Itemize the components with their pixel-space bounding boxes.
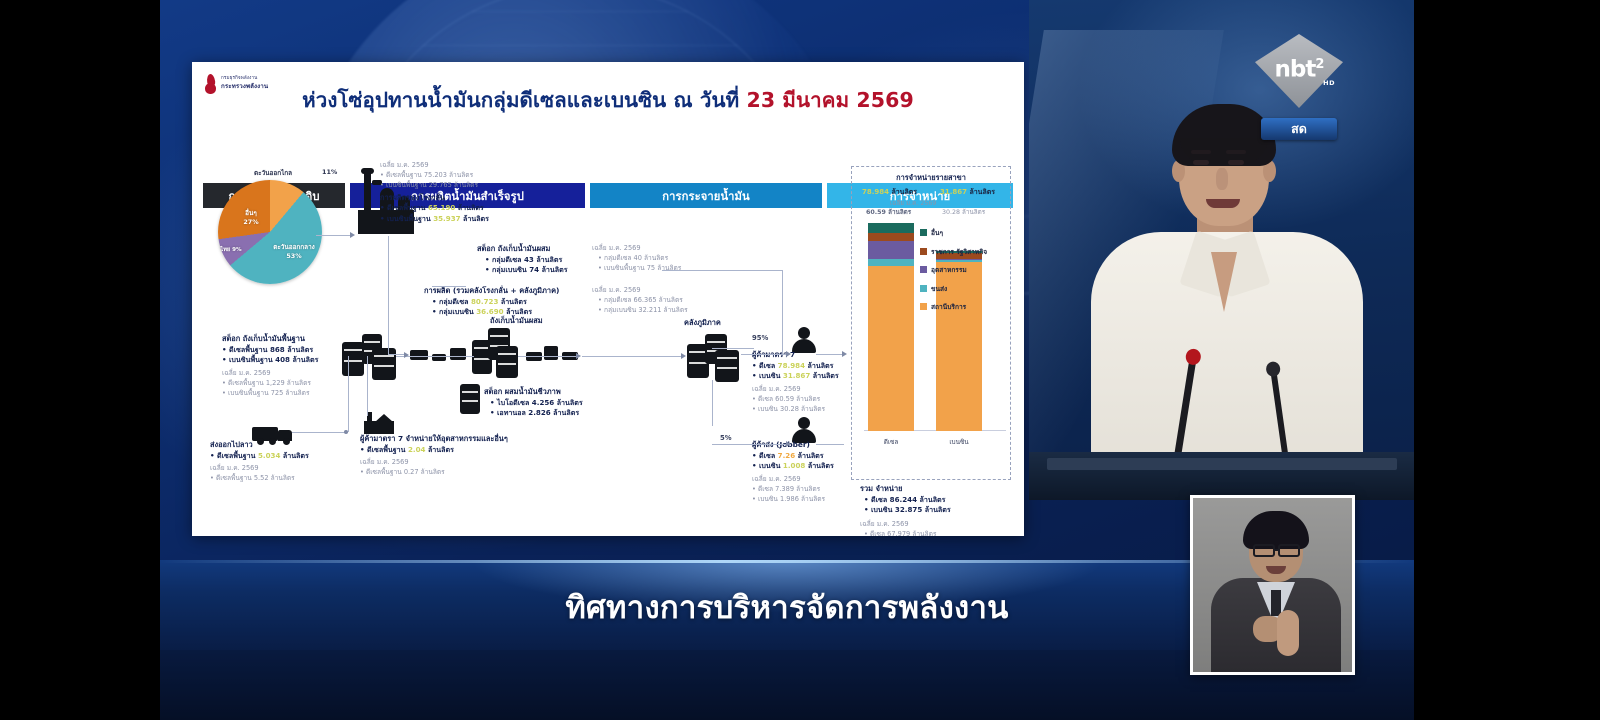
trader-share-pct: 95%: [752, 334, 768, 342]
speaker-mouth: [1206, 199, 1240, 208]
regional-depot-label: คลังภูมิภาค: [684, 318, 721, 329]
production-diesel-unit: ล้านลิตร: [498, 297, 526, 306]
jobber-diesel-line: • ดีเซล 7.26 ล้านลิตร: [752, 451, 860, 462]
legend-item-transport: ขนส่ง: [920, 283, 1012, 294]
bar-diesel: [868, 223, 914, 431]
seg-government: [868, 233, 914, 240]
speaker-eye-right: [1228, 160, 1244, 165]
sales-chart-title: การจำหน่ายรายสาขา: [852, 172, 1010, 184]
jobber-share-pct: 5%: [720, 434, 732, 442]
screenshot-root: กรมธุรกิจพลังงาน กระทรวงพลังงาน ห่วงโซ่อ…: [0, 0, 1600, 720]
trader-gasoline-line: • เบนซิน 31.867 ล้านลิตร: [752, 371, 860, 382]
refinery-avg-diesel: • ดีเซลพื้นฐาน 75.203 ล้านลิตร: [380, 171, 540, 181]
legend-label-other: อื่นๆ: [931, 227, 943, 238]
presentation-slide: กรมธุรกิจพลังงาน กระทรวงพลังงาน ห่วงโซ่อ…: [192, 62, 1024, 536]
refinery-diesel-line: • ดีเซลพื้นฐาน 65.190 ล้านลิตร: [380, 203, 540, 214]
trader-gasoline-unit: ล้านลิตร: [810, 371, 838, 380]
biofuel-stock-block: สต็อก ผสมน้ำมันชีวภาพ • ไบโอดีเซล 4.256 …: [484, 387, 612, 419]
export-avg-head: เฉลี่ย ม.ค. 2569: [210, 464, 342, 474]
pillarbox-right: [1414, 0, 1600, 720]
regional-depot-tanks-icon: [687, 334, 741, 382]
sales-chart-panel: การจำหน่ายรายสาขา 78.984 ล้านลิตร 31.867…: [851, 166, 1011, 480]
sign-language-interpreter-box: [1190, 495, 1355, 675]
export-block: ส่งออกไปลาว • ดีเซลพื้นฐาน 5.034 ล้านลิต…: [210, 440, 342, 484]
industry-diesel-unit: ล้านลิตร: [425, 445, 453, 454]
mix-stock-avg-head: เฉลี่ย ม.ค. 2569: [592, 244, 712, 254]
refinery-gasoline-pre: • เบนซินพื้นฐาน: [380, 214, 433, 223]
base-stock-diesel: • ดีเซลพื้นฐาน 868 ล้านลิตร: [222, 345, 352, 356]
industry-diesel-value: 2.04: [408, 445, 426, 454]
industry-avg-head: เฉลี่ย ม.ค. 2569: [360, 458, 546, 468]
mix-stock-gasoline: • กลุ่มเบนซิน 74 ล้านลิตร: [477, 265, 589, 276]
legend-item-other: อื่นๆ: [920, 227, 1012, 238]
diesel-avg-value: 60.59 ล้านลิตร: [866, 207, 911, 217]
seg-station: [868, 266, 914, 431]
speaker-video: [1029, 0, 1414, 500]
mix-stock-avg-diesel: • กลุ่มดีเซล 40 ล้านลิตร: [592, 254, 712, 264]
total-sales-block: รวม จำหน่าย • ดีเซล 86.244 ล้านลิตร • เบ…: [860, 484, 1010, 536]
refinery-head: การผลิตของโรงกลั่น: [380, 193, 540, 204]
gasoline-total-unit: ล้านลิตร: [969, 188, 995, 196]
refinery-diesel-pre: • ดีเซลพื้นฐาน: [380, 203, 428, 212]
production-block: การผลิต (รวมคลังโรงกลั่น + คลังภูมิภาค) …: [424, 286, 599, 318]
industry-avg-diesel: • ดีเซลพื้นฐาน 0.27 ล้านลิตร: [360, 468, 546, 478]
interpreter-glasses-right: [1278, 544, 1300, 557]
production-avg-block: เฉลี่ย ม.ค. 2569 • กลุ่มดีเซล 66.365 ล้า…: [592, 286, 717, 316]
interpreter-glasses-bridge: [1274, 549, 1280, 551]
logo-text: nbt2: [1275, 58, 1324, 82]
mix-stock-head: สต็อก ถังเก็บน้ำมันผสม: [477, 244, 589, 255]
export-head: ส่งออกไปลาว: [210, 440, 342, 451]
legend-swatch-other: [920, 229, 927, 236]
base-stock-avg-head: เฉลี่ย ม.ค. 2569: [222, 369, 352, 379]
channel-logo: nbt2 HD: [1255, 34, 1343, 108]
refinery-avg-gasoline: • เบนซินพื้นฐาน 29.765 ล้านลิตร: [380, 181, 540, 191]
trader-gasoline-value: 31.867: [783, 371, 810, 380]
pie-graphic: [218, 180, 322, 284]
stage-distribution: การกระจายน้ำมัน: [590, 183, 822, 208]
refinery-gasoline-value: 35.937: [433, 214, 460, 223]
base-stock-avg-gasoline: • เบนซินพื้นฐาน 725 ล้านลิตร: [222, 389, 352, 399]
mix-stock-block: สต็อก ถังเก็บน้ำมันผสม • กลุ่มดีเซล 43 ล…: [477, 244, 589, 276]
total-gasoline: • เบนซิน 32.875 ล้านลิตร: [860, 505, 1010, 516]
base-stock-avg-diesel: • ดีเซลพื้นฐาน 1,229 ล้านลิตร: [222, 379, 352, 389]
gasoline-avg-unit: ล้านลิตร: [962, 209, 985, 216]
sales-chart-legend: อื่นๆ ราชการ รัฐวิสาหกิจ อุตสาหกรรม ขนส่…: [920, 227, 1012, 320]
export-avg-diesel: • ดีเซลพื้นฐาน 5.52 ล้านลิตร: [210, 474, 342, 484]
jobber-gasoline-value: 1.008: [783, 461, 805, 470]
trader-avg-head: เฉลี่ย ม.ค. 2569: [752, 385, 860, 395]
diesel-total-number: 78.984: [862, 188, 889, 196]
jobber-gasoline-pre: • เบนซิน: [752, 461, 783, 470]
slide-title-main: ห่วงโซ่อุปทานน้ำมันกลุ่มดีเซลและเบนซิน ณ…: [302, 88, 746, 112]
gasoline-avg-number: 30.28: [942, 209, 960, 216]
biofuel-head: สต็อก ผสมน้ำมันชีวภาพ: [484, 387, 612, 398]
trader-diesel-line: • ดีเซล 78.984 ล้านลิตร: [752, 361, 860, 372]
trader-gasoline-pre: • เบนซิน: [752, 371, 783, 380]
ministry-dept-label: กรมธุรกิจพลังงาน: [221, 76, 268, 83]
speaker-nose: [1216, 168, 1228, 190]
biofuel-tank-icon: [460, 384, 482, 416]
legend-swatch-industry: [920, 266, 927, 273]
export-diesel-line: • ดีเซลพื้นฐาน 5.034 ล้านลิตร: [210, 451, 342, 462]
diesel-total-unit: ล้านลิตร: [891, 188, 917, 196]
pie-label-fareast: ตะวันออกไกล: [254, 168, 292, 178]
legend-swatch-station: [920, 303, 927, 310]
bar-label-diesel: ดีเซล: [868, 437, 914, 447]
gasoline-total-number: 31.867: [940, 188, 967, 196]
jobber-gasoline-unit: ล้านลิตร: [805, 461, 833, 470]
production-diesel-pre: • กลุ่มดีเซล: [432, 297, 471, 306]
crude-source-pie-chart: ตะวันออกไกล 11% อื่นๆ27% ไทย 9% ตะวันออก…: [210, 168, 348, 288]
trader-diesel-pre: • ดีเซล: [752, 361, 778, 370]
refinery-avg-head: เฉลี่ย ม.ค. 2569: [380, 161, 540, 171]
total-diesel: • ดีเซล 86.244 ล้านลิตร: [860, 495, 1010, 506]
legend-label-transport: ขนส่ง: [931, 283, 947, 294]
production-head: การผลิต (รวมคลังโรงกลั่น + คลังภูมิภาค): [424, 286, 599, 297]
stage-label: การกระจายน้ำมัน: [662, 187, 749, 205]
jobber-block: ผู้ค้าส่ง (Jobber) • ดีเซล 7.26 ล้านลิตร…: [752, 440, 860, 505]
base-stock-gasoline: • เบนซินพื้นฐาน 408 ล้านลิตร: [222, 355, 352, 366]
logo-diamond-shape: nbt2: [1255, 34, 1343, 108]
slide-title: ห่วงโซ่อุปทานน้ำมันกลุ่มดีเซลและเบนซิน ณ…: [192, 84, 1024, 117]
production-diesel-line: • กลุ่มดีเซล 80.723 ล้านลิตร: [424, 297, 599, 308]
diesel-avg-number: 60.59: [866, 209, 886, 216]
gasoline-avg-value: 30.28 ล้านลิตร: [942, 207, 985, 217]
pie-value-fareast: 11%: [322, 168, 337, 176]
production-diesel-value: 80.723: [471, 297, 498, 306]
mix-stock-avg-gasoline: • เบนซินพื้นฐาน 75 ล้านลิตร: [592, 264, 712, 274]
slide-title-date: 23 มีนาคม 2569: [746, 88, 913, 112]
production-avg-gasoline: • กลุ่มเบนซิน 32.211 ล้านลิตร: [592, 306, 717, 316]
industry-block: ผู้ค้ามาตรา 7 จำหน่ายให้อุตสาหกรรมและอื่…: [360, 434, 546, 478]
live-badge: สด: [1261, 118, 1337, 140]
jobber-gasoline-line: • เบนซิน 1.008 ล้านลิตร: [752, 461, 860, 472]
total-avg-diesel: • ดีเซล 67.979 ล้านลิตร: [860, 530, 1010, 536]
legend-label-station: สถานีบริการ: [931, 301, 966, 312]
trader-avg-gasoline: • เบนซิน 30.28 ล้านลิตร: [752, 405, 860, 415]
logo-channel-number: 2: [1315, 57, 1323, 72]
total-head: รวม จำหน่าย: [860, 484, 1010, 495]
jobber-diesel-pre: • ดีเซล: [752, 451, 778, 460]
pie-label-other: อื่นๆ27%: [236, 208, 266, 226]
speaker-brow-right: [1226, 150, 1246, 154]
production-gasoline-pre: • กลุ่มเบนซิน: [432, 307, 476, 316]
mix-stock-diesel: • กลุ่มดีเซล 43 ล้านลิตร: [477, 255, 589, 266]
speaker-eye-left: [1193, 160, 1209, 165]
export-diesel-pre: • ดีเซลพื้นฐาน: [210, 451, 258, 460]
pie-label-mideast: ตะวันออกกลาง53%: [266, 242, 322, 260]
jobber-diesel-unit: ล้านลิตร: [795, 451, 823, 460]
speaker-brow-left: [1191, 150, 1211, 154]
base-stock-head: สต็อก ถังเก็บน้ำมันพื้นฐาน: [222, 334, 352, 345]
pillarbox-left: [0, 0, 160, 720]
mix-tank-label: ถังเก็บน้ำมันผสม: [490, 316, 543, 327]
speaker-desk: [1029, 452, 1414, 500]
industry-head: ผู้ค้ามาตรา 7 จำหน่ายให้อุตสาหกรรมและอื่…: [360, 434, 546, 445]
logo-name: nbt: [1275, 57, 1316, 83]
export-diesel-unit: ล้านลิตร: [280, 451, 308, 460]
legend-label-industry: อุตสาหกรรม: [931, 264, 967, 275]
jobber-head: ผู้ค้าส่ง (Jobber): [752, 440, 860, 451]
biofuel-biodiesel: • ไบโอดีเซล 4.256 ล้านลิตร: [484, 398, 612, 409]
jobber-avg-gasoline: • เบนซิน 1.986 ล้านลิตร: [752, 495, 860, 505]
biofuel-ethanol: • เอทานอล 2.826 ล้านลิตร: [484, 408, 612, 419]
production-avg-head: เฉลี่ย ม.ค. 2569: [592, 286, 717, 296]
interpreter-hand-right: [1277, 610, 1299, 656]
legend-item-industry: อุตสาหกรรม: [920, 264, 1012, 275]
bar-label-gasoline: เบนซิน: [936, 437, 982, 447]
diesel-total-value: 78.984 ล้านลิตร: [862, 187, 917, 198]
industry-diesel-pre: • ดีเซลพื้นฐาน: [360, 445, 408, 454]
trader-diesel-unit: ล้านลิตร: [805, 361, 833, 370]
refinery-diesel-unit: ล้านลิตร: [455, 203, 483, 212]
refinery-gasoline-unit: ล้านลิตร: [461, 214, 489, 223]
jobber-avg-diesel: • ดีเซล 7.389 ล้านลิตร: [752, 485, 860, 495]
mix-tank-label-wrap: ถังเก็บน้ำมันผสม: [490, 316, 543, 327]
refinery-gasoline-line: • เบนซินพื้นฐาน 35.937 ล้านลิตร: [380, 214, 540, 225]
gasoline-total-value: 31.867 ล้านลิตร: [940, 187, 995, 198]
refinery-diesel-value: 65.190: [428, 203, 455, 212]
industry-factory-icon: [364, 412, 394, 434]
legend-swatch-transport: [920, 285, 927, 292]
production-avg-diesel: • กลุ่มดีเซล 66.365 ล้านลิตร: [592, 296, 717, 306]
jobber-avg-head: เฉลี่ย ม.ค. 2569: [752, 475, 860, 485]
legend-swatch-government: [920, 248, 927, 255]
legend-item-government: ราชการ รัฐวิสาหกิจ: [920, 246, 1012, 257]
diesel-avg-unit: ล้านลิตร: [888, 209, 911, 216]
total-avg-head: เฉลี่ย ม.ค. 2569: [860, 520, 1010, 530]
refinery-production-block: เฉลี่ย ม.ค. 2569 • ดีเซลพื้นฐาน 75.203 ล…: [380, 161, 540, 225]
seg-industry: [868, 241, 914, 260]
export-diesel-value: 5.034: [258, 451, 280, 460]
logo-hd-badge: HD: [1323, 79, 1335, 87]
regional-depot-label-wrap: คลังภูมิภาค: [684, 318, 721, 329]
legend-label-government: ราชการ รัฐวิสาหกิจ: [931, 246, 987, 257]
seg-other: [868, 223, 914, 233]
trader-diesel-value: 78.984: [778, 361, 805, 370]
trader-block: ผู้ค้ามาตรา 7 • ดีเซล 78.984 ล้านลิตร • …: [752, 350, 860, 415]
legend-item-station: สถานีบริการ: [920, 301, 1012, 312]
jobber-diesel-value: 7.26: [778, 451, 796, 460]
industry-diesel-line: • ดีเซลพื้นฐาน 2.04 ล้านลิตร: [360, 445, 546, 456]
base-stock-block: สต็อก ถังเก็บน้ำมันพื้นฐาน • ดีเซลพื้นฐา…: [222, 334, 352, 399]
pie-label-thailand: ไทย 9%: [218, 246, 244, 254]
trader-avg-diesel: • ดีเซล 60.59 ล้านลิตร: [752, 395, 860, 405]
interpreter-glasses-left: [1253, 544, 1275, 557]
